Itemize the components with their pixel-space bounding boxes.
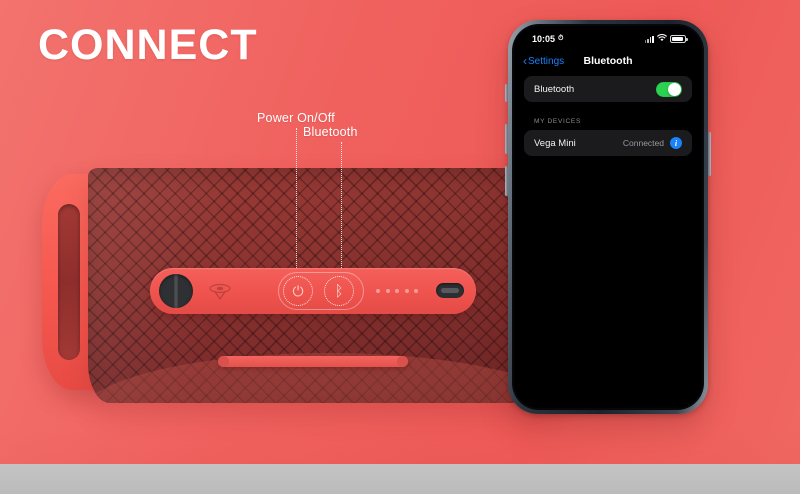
devices-card: Vega Mini Connected i <box>524 130 692 156</box>
phone-mockup: 10:05 ⏱ <box>508 20 708 414</box>
chevron-left-icon: ‹ <box>523 55 527 67</box>
speaker-control-strip: ⏻ ᛒ <box>150 268 476 314</box>
page-title: CONNECT <box>38 24 258 67</box>
led-dot <box>414 289 418 293</box>
bluetooth-row-label: Bluetooth <box>534 84 574 95</box>
passive-radiator-left <box>58 204 80 360</box>
bottom-shadow <box>0 428 800 464</box>
alarm-icon: ⏱ <box>558 35 563 43</box>
led-dot <box>395 289 399 293</box>
phone-screen: 10:05 ⏱ <box>514 26 702 408</box>
bottom-strip <box>0 464 800 494</box>
bluetooth-button[interactable]: ᛒ <box>324 276 354 306</box>
phone-volume-down-button[interactable] <box>505 166 508 196</box>
device-row-vega-mini[interactable]: Vega Mini Connected i <box>534 130 682 156</box>
ios-settings-body: Bluetooth MY DEVICES Vega Mini Connected <box>514 76 702 156</box>
led-dot <box>405 289 409 293</box>
toggle-knob <box>668 83 681 96</box>
device-name: Vega Mini <box>534 138 576 149</box>
bluetooth-toggle-card: Bluetooth <box>524 76 692 102</box>
back-label: Settings <box>528 56 564 67</box>
speaker-strap <box>218 356 408 367</box>
device-info-button[interactable]: i <box>670 137 682 149</box>
phone-bezel: 10:05 ⏱ <box>512 24 704 410</box>
wifi-icon <box>657 34 667 44</box>
promo-slide: CONNECT ⏻ ᛒ <box>0 0 800 494</box>
bluetooth-toggle-row[interactable]: Bluetooth <box>534 76 682 102</box>
phone-volume-up-button[interactable] <box>505 124 508 154</box>
back-to-settings-link[interactable]: ‹ Settings <box>523 56 564 67</box>
callout-label-bluetooth: Bluetooth <box>303 125 358 139</box>
device-status: Connected <box>623 138 664 148</box>
led-dot <box>386 289 390 293</box>
usb-c-port <box>436 283 464 298</box>
status-time: 10:05 <box>532 34 555 44</box>
bluetooth-toggle[interactable] <box>656 82 682 97</box>
phone-power-button[interactable] <box>708 132 711 176</box>
led-dot <box>376 289 380 293</box>
callout-label-power: Power On/Off <box>257 111 335 125</box>
volume-knob[interactable] <box>159 274 193 308</box>
ios-nav-bar: ‹ Settings Bluetooth <box>514 50 702 72</box>
power-button[interactable]: ⏻ <box>283 276 313 306</box>
battery-led-indicators <box>376 289 418 293</box>
cellular-signal-icon <box>645 36 654 43</box>
ios-status-bar: 10:05 ⏱ <box>514 26 702 48</box>
vega-logo-icon <box>206 282 234 300</box>
phone-mute-switch[interactable] <box>505 84 508 102</box>
my-devices-section-header: MY DEVICES <box>534 118 692 125</box>
battery-icon <box>670 35 686 43</box>
